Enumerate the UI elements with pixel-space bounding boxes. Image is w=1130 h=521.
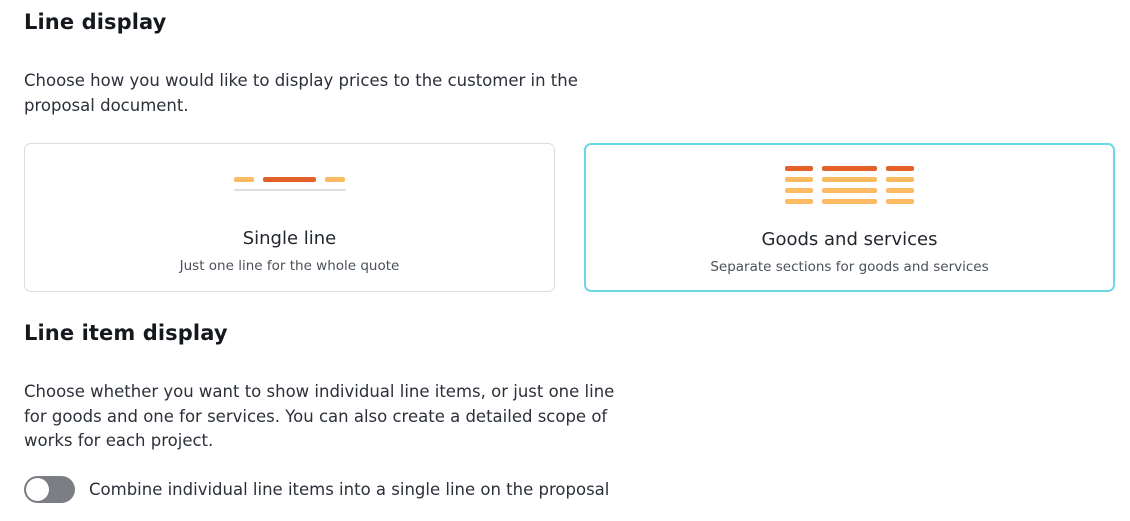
goods-icon-row-4 bbox=[785, 199, 914, 204]
line-display-options: Single line Just one line for the whole … bbox=[24, 143, 1115, 292]
combine-line-items-label: Combine individual line items into a sin… bbox=[89, 479, 609, 501]
goods-and-services-icon bbox=[785, 153, 914, 217]
option-subtitle-single-line: Just one line for the whole quote bbox=[180, 258, 400, 275]
single-line-icon bbox=[234, 152, 346, 216]
goods-icon-row-2 bbox=[785, 177, 914, 182]
option-title-goods-and-services: Goods and services bbox=[762, 229, 938, 251]
line-item-display-title: Line item display bbox=[24, 321, 228, 345]
line-display-description: Choose how you would like to display pri… bbox=[24, 69, 639, 118]
page-title: Line display bbox=[24, 10, 166, 34]
goods-icon-row-3 bbox=[785, 188, 914, 193]
combine-line-items-row: Combine individual line items into a sin… bbox=[24, 476, 609, 503]
option-subtitle-goods-and-services: Separate sections for goods and services bbox=[710, 259, 988, 276]
combine-line-items-toggle[interactable] bbox=[24, 476, 75, 503]
goods-icon-row-1 bbox=[785, 166, 914, 171]
single-line-bar-center bbox=[263, 177, 316, 182]
line-item-display-description: Choose whether you want to show individu… bbox=[24, 380, 639, 454]
line-display-settings-panel: Line display Choose how you would like t… bbox=[0, 0, 1130, 521]
single-line-divider bbox=[234, 189, 346, 191]
option-card-goods-and-services[interactable]: Goods and services Separate sections for… bbox=[584, 143, 1115, 292]
single-line-bar-left bbox=[234, 177, 254, 182]
single-line-bar-right bbox=[325, 177, 345, 182]
option-card-single-line[interactable]: Single line Just one line for the whole … bbox=[24, 143, 555, 292]
toggle-knob bbox=[26, 478, 49, 501]
option-title-single-line: Single line bbox=[243, 228, 337, 250]
